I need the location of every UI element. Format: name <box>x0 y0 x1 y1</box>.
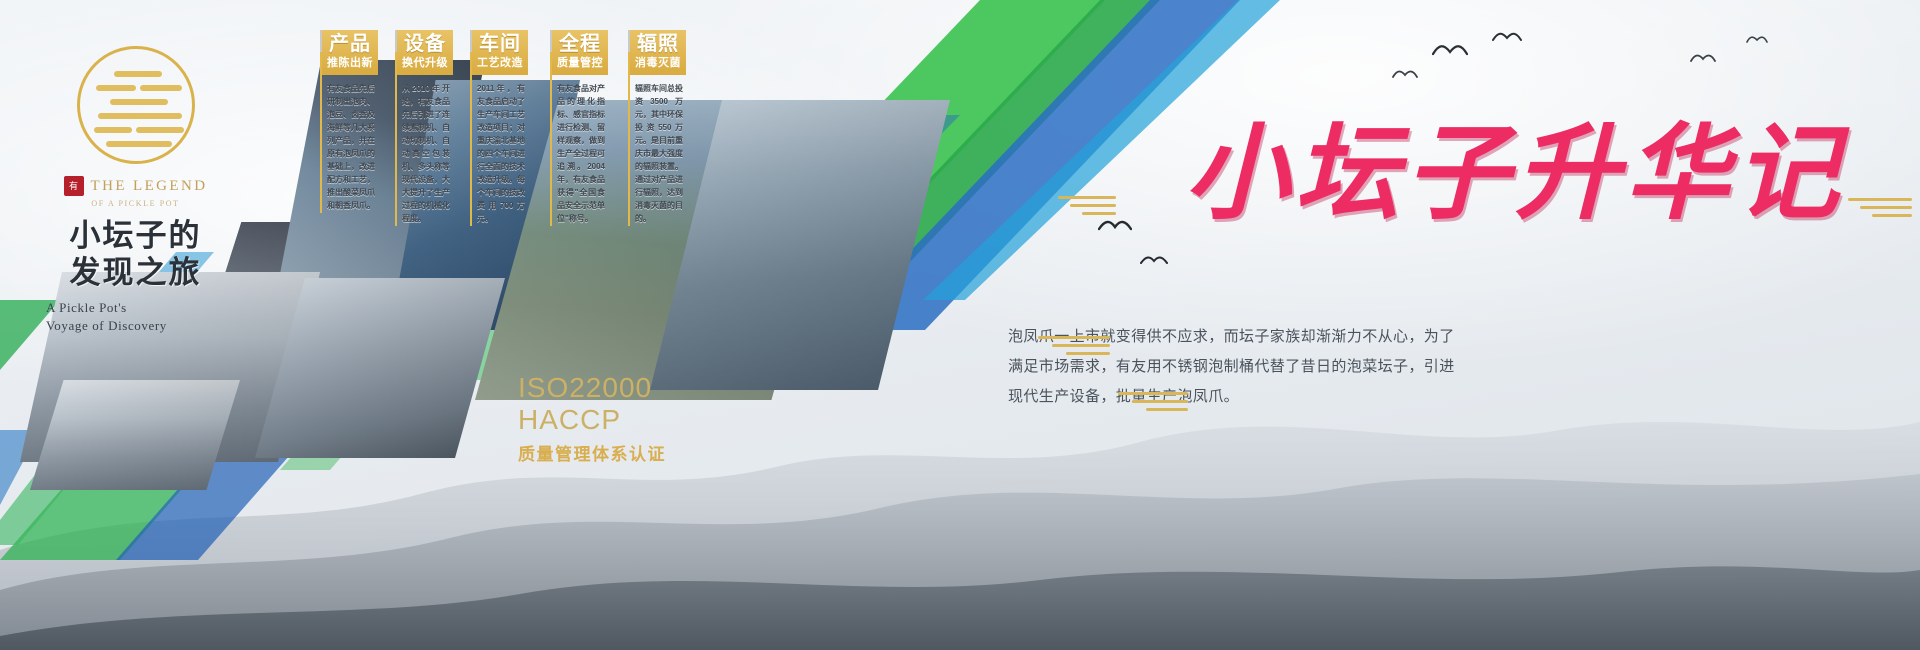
column-header: 设备 换代升级 <box>397 30 453 75</box>
column-heading: 设备 <box>399 34 451 55</box>
brand-title-en-line2: Voyage of Discovery <box>46 317 243 335</box>
column-body: 有友食品对产品的理化指标、感官指标进行检测、留样观察，做到生产全过程可追溯。20… <box>552 83 608 225</box>
column-body: 从2010年开始，有友食品先后引进了连续煮制机、自动切制机、自动真空包装机、多头… <box>397 83 453 225</box>
column-heading: 全程 <box>554 34 606 55</box>
brand-lockup: 有 THE LEGEND OF A PICKLE POT 小坛子的 发现之旅 A… <box>28 46 243 334</box>
legend-en-text: THE LEGEND <box>91 178 208 195</box>
brand-title-en: A Pickle Pot's Voyage of Discovery <box>28 299 243 334</box>
certification-cn-line: 质量管理体系认证 <box>518 440 666 465</box>
poster-canvas: 有 THE LEGEND OF A PICKLE POT 小坛子的 发现之旅 A… <box>0 0 1920 650</box>
column-subheading: 质量管控 <box>554 57 606 70</box>
brand-title-en-line1: A Pickle Pot's <box>46 299 243 317</box>
red-seal-icon: 有 <box>64 176 84 196</box>
photo-tile-conveyor <box>30 380 240 490</box>
column-header: 产品 推陈出新 <box>322 30 378 75</box>
column-rule <box>470 52 472 226</box>
column-body: 2011年，有友食品启动了生产车间工艺改造项目；对重庆渝北基地的四个车间进行全面… <box>472 83 528 225</box>
column-heading: 产品 <box>324 34 376 55</box>
column-rule <box>320 52 322 213</box>
column-heading: 车间 <box>474 34 526 55</box>
column-header: 辐照 消毒灭菌 <box>630 30 686 75</box>
column-rule <box>550 52 552 226</box>
column-body: 有友食品先后研制出泡肉、泡豆、卤香及海鲜等几大系列产品，并在原有泡凤爪的基础上，… <box>322 83 378 213</box>
column-header: 车间 工艺改造 <box>472 30 528 75</box>
certification-badge: ISO22000 HACCP 质量管理体系认证 <box>518 372 666 465</box>
certification-iso-line: ISO22000 <box>518 372 666 404</box>
column-rule <box>395 52 397 226</box>
column-header: 全程 质量管控 <box>552 30 608 75</box>
poster-paragraph: 泡凤爪一上市就变得供不应求，而坛子家族却渐渐力不从心，为了满足市场需求，有友用不… <box>1008 322 1463 412</box>
column-body: 辐照车间总投资3500万元，其中环保投资550万元。是目前重庆市最大强度的辐照装… <box>630 83 686 225</box>
info-column-equipment: 设备 换代升级 从2010年开始，有友食品先后引进了连续煮制机、自动切制机、自动… <box>395 30 453 226</box>
column-subheading: 换代升级 <box>399 57 451 70</box>
seal-bars-glyph <box>80 49 192 161</box>
poster-headline: 小坛子升华记 <box>1185 88 1845 239</box>
column-subheading: 工艺改造 <box>474 57 526 70</box>
column-heading: 辐照 <box>632 34 684 55</box>
info-column-quality: 全程 质量管控 有友食品对产品的理化指标、感官指标进行检测、留样观察，做到生产全… <box>550 30 608 226</box>
certification-haccp-line: HACCP <box>518 404 666 436</box>
legend-sub-text: OF A PICKLE POT <box>28 199 243 208</box>
column-subheading: 推陈出新 <box>324 57 376 70</box>
column-rule <box>628 52 630 226</box>
info-column-product: 产品 推陈出新 有友食品先后研制出泡肉、泡豆、卤香及海鲜等几大系列产品，并在原有… <box>320 30 378 213</box>
brand-title-cn-line1: 小坛子的 <box>28 218 243 255</box>
brand-title-cn-line2: 发现之旅 <box>28 255 243 292</box>
info-column-irradiation: 辐照 消毒灭菌 辐照车间总投资3500万元，其中环保投资550万元。是目前重庆市… <box>628 30 686 226</box>
brand-title-cn: 小坛子的 发现之旅 <box>28 218 243 291</box>
legend-wordmark: 有 THE LEGEND <box>28 176 243 196</box>
info-column-workshop: 车间 工艺改造 2011年，有友食品启动了生产车间工艺改造项目；对重庆渝北基地的… <box>470 30 528 226</box>
column-subheading: 消毒灭菌 <box>632 57 684 70</box>
seal-logo-icon <box>77 46 195 164</box>
